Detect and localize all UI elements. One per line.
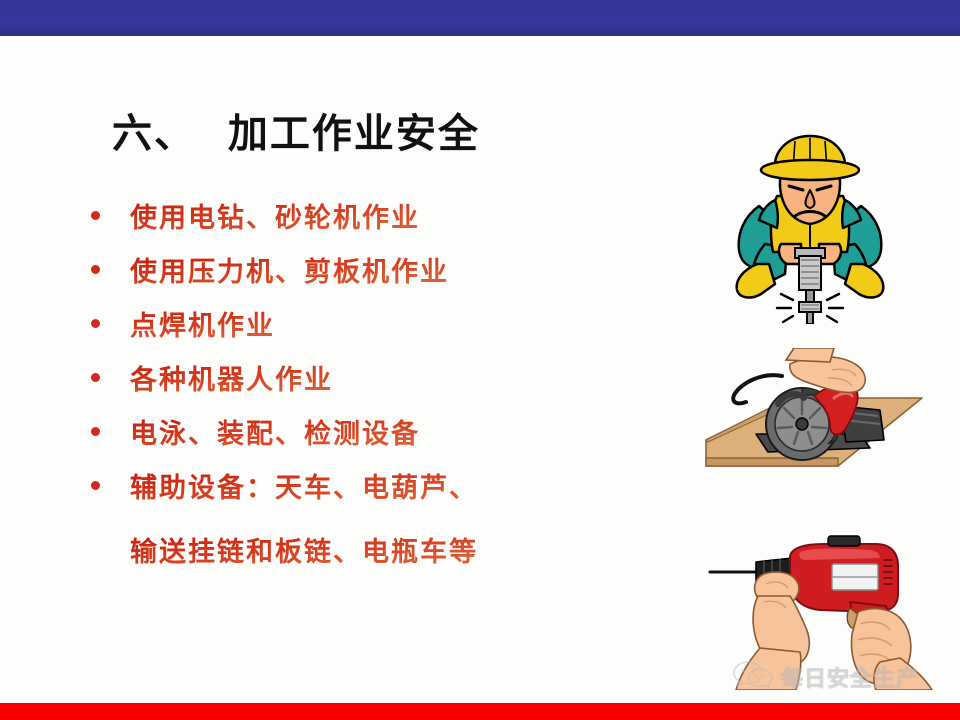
bullet-list: 使用电钻、砂轮机作业 使用压力机、剪板机作业 点焊机作业 各种机器人作业 电泳、… xyxy=(86,188,706,576)
list-item-label: 使用电钻、砂轮机作业 xyxy=(130,196,420,235)
list-item-label: 电泳、装配、检测设备 xyxy=(130,412,420,451)
list-item: 电泳、装配、检测设备 xyxy=(86,404,706,458)
bullet-dot-icon xyxy=(91,481,100,490)
page-title: 六、 加工作业安全 xyxy=(112,112,480,156)
watermark: 每日安全生产 xyxy=(733,659,919,694)
bullet-dot-icon xyxy=(91,265,100,274)
list-item-label: 各种机器人作业 xyxy=(130,358,333,397)
bullet-dot-icon xyxy=(91,319,100,328)
list-item: 辅助设备：天车、电葫芦、 xyxy=(86,458,706,512)
list-item: 各种机器人作业 xyxy=(86,350,706,404)
worker-jackhammer-illustration xyxy=(715,124,905,324)
top-decoration-band xyxy=(0,0,960,36)
list-item-continuation-label: 输送挂链和板链、电瓶车等 xyxy=(130,530,478,569)
circular-saw-illustration xyxy=(694,348,934,498)
list-item-label: 点焊机作业 xyxy=(130,304,275,343)
bullet-dot-icon xyxy=(91,373,100,382)
watermark-label: 每日安全生产 xyxy=(781,661,919,693)
list-item-label: 辅助设备：天车、电葫芦、 xyxy=(130,466,478,505)
list-item: 点焊机作业 xyxy=(86,296,706,350)
bullet-dot-icon xyxy=(91,427,100,436)
bullet-dot-icon xyxy=(91,211,100,220)
bottom-decoration-band xyxy=(0,703,960,720)
slide-canvas: 六、 加工作业安全 使用电钻、砂轮机作业 使用压力机、剪板机作业 点焊机作业 各… xyxy=(0,0,960,720)
list-item-continuation: 输送挂链和板链、电瓶车等 xyxy=(86,522,706,576)
list-item: 使用压力机、剪板机作业 xyxy=(86,242,706,296)
list-item-label: 使用压力机、剪板机作业 xyxy=(130,250,449,289)
list-item: 使用电钻、砂轮机作业 xyxy=(86,188,706,242)
wechat-bubbles-icon xyxy=(733,659,773,694)
